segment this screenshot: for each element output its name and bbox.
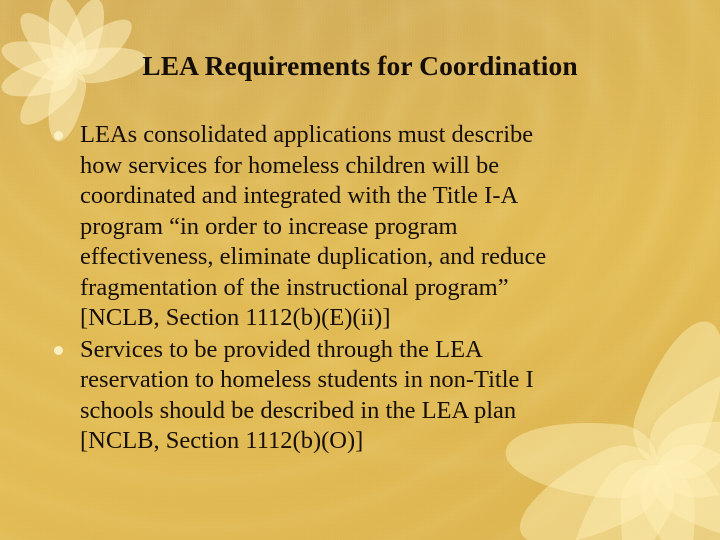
bullet-text: LEAs consolidated applications must desc… xyxy=(80,120,686,334)
list-item: LEAs consolidated applications must desc… xyxy=(46,120,686,334)
slide-body: LEAs consolidated applications must desc… xyxy=(46,120,686,458)
flower-petal-icon xyxy=(547,446,689,540)
bullet-dot-icon xyxy=(54,346,63,355)
list-item: Services to be provided through the LEA … xyxy=(46,335,686,457)
bullet-text: Services to be provided through the LEA … xyxy=(80,335,686,457)
flower-petal-icon xyxy=(620,465,696,540)
flower-petal-icon xyxy=(626,445,720,540)
slide-canvas: LEA Requirements for Coordination LEAs c… xyxy=(0,0,720,540)
bullet-dot-icon xyxy=(54,131,63,140)
slide-title: LEA Requirements for Coordination xyxy=(0,50,720,82)
